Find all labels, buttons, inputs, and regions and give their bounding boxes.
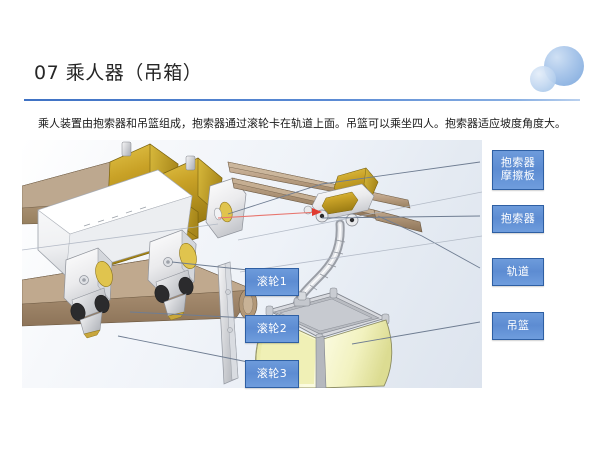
header-decoration <box>522 44 588 98</box>
small-blue-circle-icon <box>530 66 556 92</box>
body-text: 乘人装置由抱索器和吊篮组成，抱索器通过滚轮卡在轨道上面。吊篮可以乘坐四人。抱索器… <box>38 116 583 131</box>
callout-roller-1[interactable]: 滚轮1 <box>245 268 299 296</box>
callout-roller-3-label: 滚轮3 <box>257 368 287 381</box>
callout-grip-friction-plate-label-line2: 摩擦板 <box>501 170 535 183</box>
page-title: 07 乘人器（吊箱） <box>34 58 202 85</box>
title-divider <box>24 99 580 101</box>
callout-roller-3[interactable]: 滚轮3 <box>245 360 299 388</box>
callout-roller-2[interactable]: 滚轮2 <box>245 315 299 343</box>
callout-grip[interactable]: 抱索器 <box>492 205 544 233</box>
callout-track-label: 轨道 <box>507 266 530 279</box>
diagram-canvas <box>22 140 482 388</box>
callout-grip-label: 抱索器 <box>501 213 535 226</box>
callout-roller-2-label: 滚轮2 <box>257 323 287 336</box>
slide-canvas: 07 乘人器（吊箱） 乘人装置由抱索器和吊篮组成，抱索器通过滚轮卡在轨道上面。吊… <box>0 0 600 450</box>
callout-cabin-label: 吊篮 <box>507 320 530 333</box>
support-post <box>218 262 238 384</box>
callout-cabin[interactable]: 吊篮 <box>492 312 544 340</box>
callout-track[interactable]: 轨道 <box>492 258 544 286</box>
roller-assembly-1 <box>64 248 115 338</box>
callout-roller-1-label: 滚轮1 <box>257 276 287 289</box>
callout-grip-friction-plate[interactable]: 抱索器 摩擦板 <box>492 150 544 190</box>
